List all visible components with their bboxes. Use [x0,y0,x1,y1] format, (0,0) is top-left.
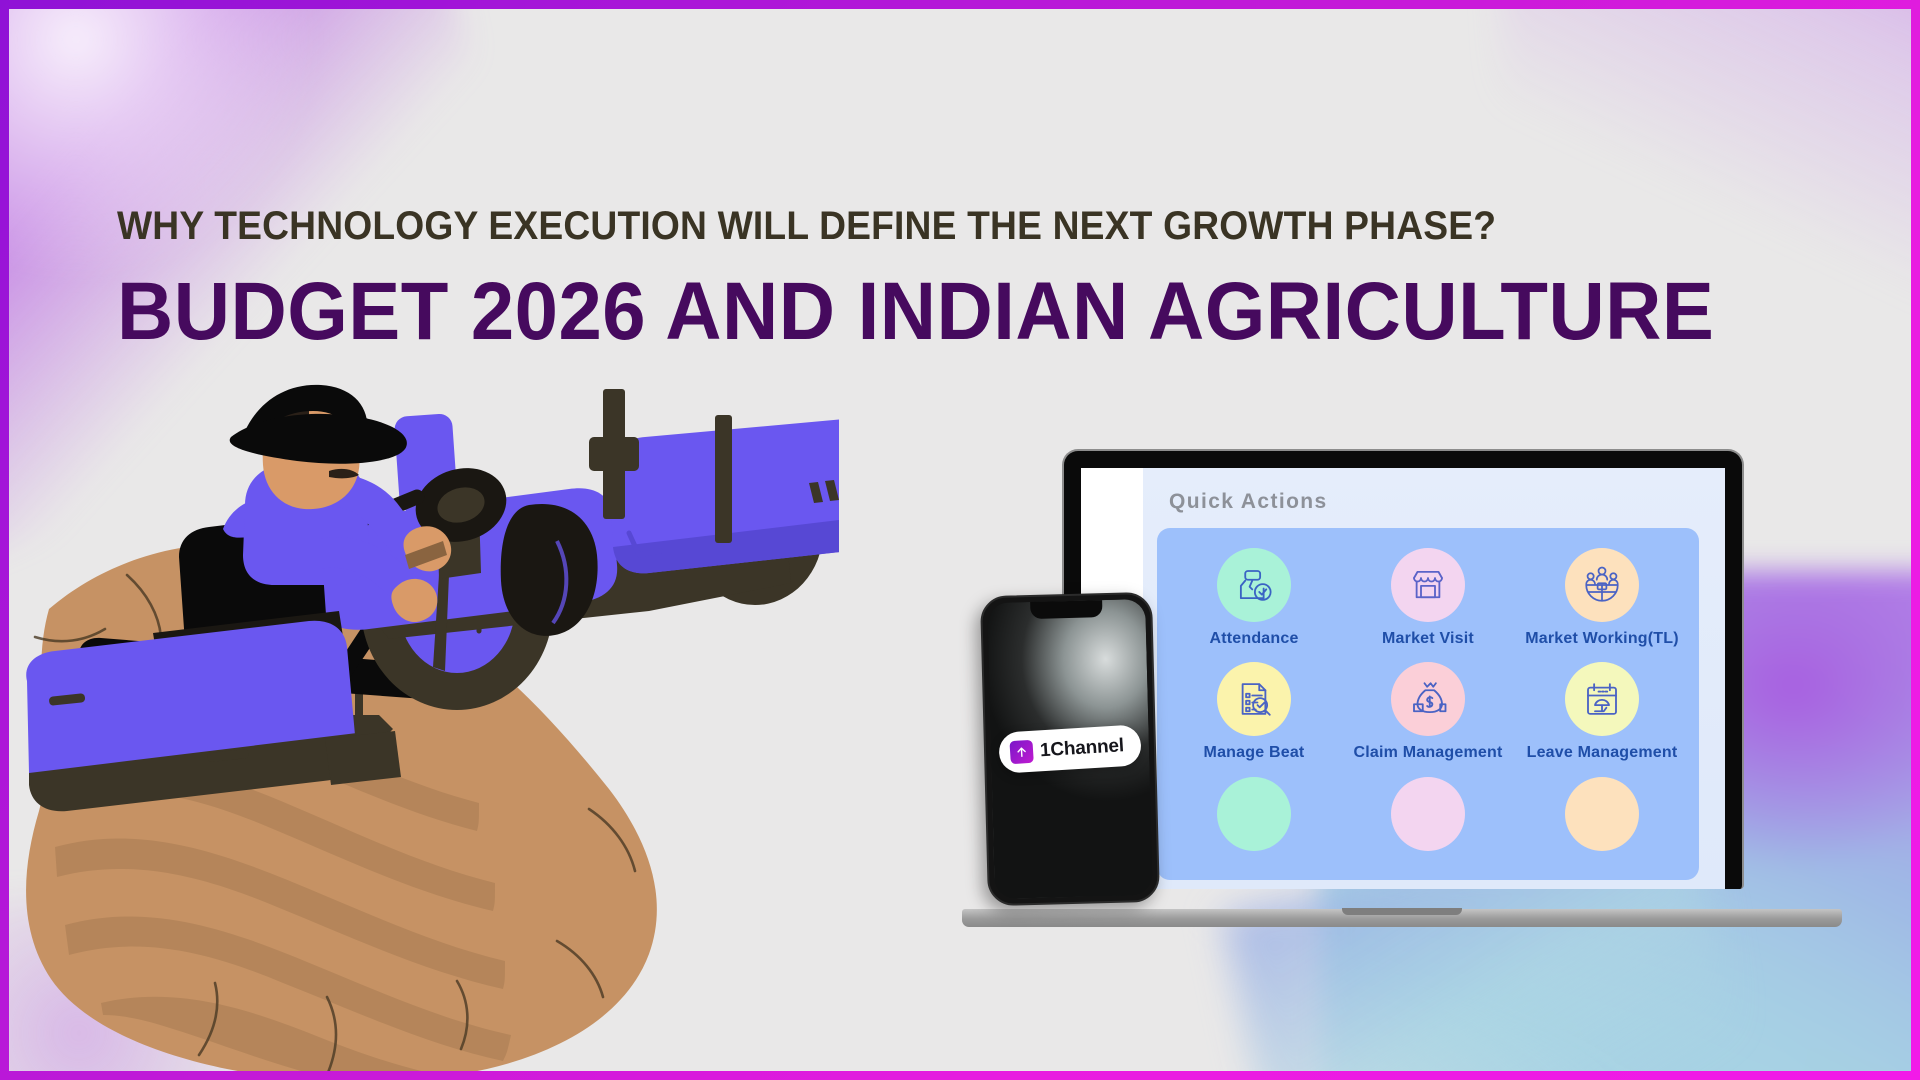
tile-label: Market Visit [1345,630,1511,648]
tile-label: Attendance [1171,630,1337,648]
laptop-screen: Quick Actions [1081,468,1725,889]
heading-block: WHY TECHNOLOGY EXECUTION WILL DEFINE THE… [117,204,1837,353]
quick-action-manage-beat[interactable]: Manage Beat [1167,662,1341,762]
laptop-lid: Quick Actions [1062,449,1744,889]
partial-tile-icon [1565,777,1639,851]
laptop: Quick Actions [1062,449,1744,909]
device-mockup: Quick Actions [984,449,1844,939]
storefront-icon [1391,548,1465,622]
quick-actions-heading: Quick Actions [1169,490,1699,514]
app-screen: Quick Actions [1081,468,1725,889]
app-logo-text: 1Channel [1039,735,1124,762]
quick-action-claim-management[interactable]: Claim Management [1341,662,1515,762]
money-bag-icon [1391,662,1465,736]
team-globe-icon [1565,548,1639,622]
gradient-border-frame: WHY TECHNOLOGY EXECUTION WILL DEFINE THE… [0,0,1920,1080]
partial-tile-icon [1391,777,1465,851]
smartphone: 1Channel [980,592,1160,906]
app-content: Quick Actions [1143,468,1725,889]
poster-canvas: WHY TECHNOLOGY EXECUTION WILL DEFINE THE… [9,9,1911,1071]
document-search-icon [1217,662,1291,736]
kicker-text: WHY TECHNOLOGY EXECUTION WILL DEFINE THE… [117,204,1717,249]
partial-tile-icon [1217,777,1291,851]
quick-actions-row-partial [1167,777,1689,873]
tile-label: Market Working(TL) [1519,630,1685,648]
up-arrow-icon [1009,740,1033,764]
quick-action-partial-1[interactable] [1167,777,1341,859]
phone-notch [1030,600,1102,619]
calendar-leave-icon [1565,662,1639,736]
quick-action-partial-3[interactable] [1515,777,1689,859]
tile-label: Claim Management [1345,744,1511,762]
tractor-illustration [9,379,839,1071]
quick-actions-row: Manage Beat [1167,662,1689,776]
tile-label: Leave Management [1519,744,1685,762]
app-logo-badge: 1Channel [998,724,1142,774]
quick-action-market-working-tl[interactable]: Market Working(TL) [1515,548,1689,648]
attendance-icon [1217,548,1291,622]
laptop-base [962,909,1842,927]
quick-actions-row: Attendance [1167,548,1689,662]
quick-action-leave-management[interactable]: Leave Management [1515,662,1689,762]
quick-action-attendance[interactable]: Attendance [1167,548,1341,648]
page-title: BUDGET 2026 AND INDIAN AGRICULTURE [117,271,1751,353]
laptop-base-notch [1342,908,1462,915]
tile-label: Manage Beat [1171,744,1337,762]
quick-action-partial-2[interactable] [1341,777,1515,859]
quick-actions-card: Attendance [1157,528,1699,880]
quick-action-market-visit[interactable]: Market Visit [1341,548,1515,648]
